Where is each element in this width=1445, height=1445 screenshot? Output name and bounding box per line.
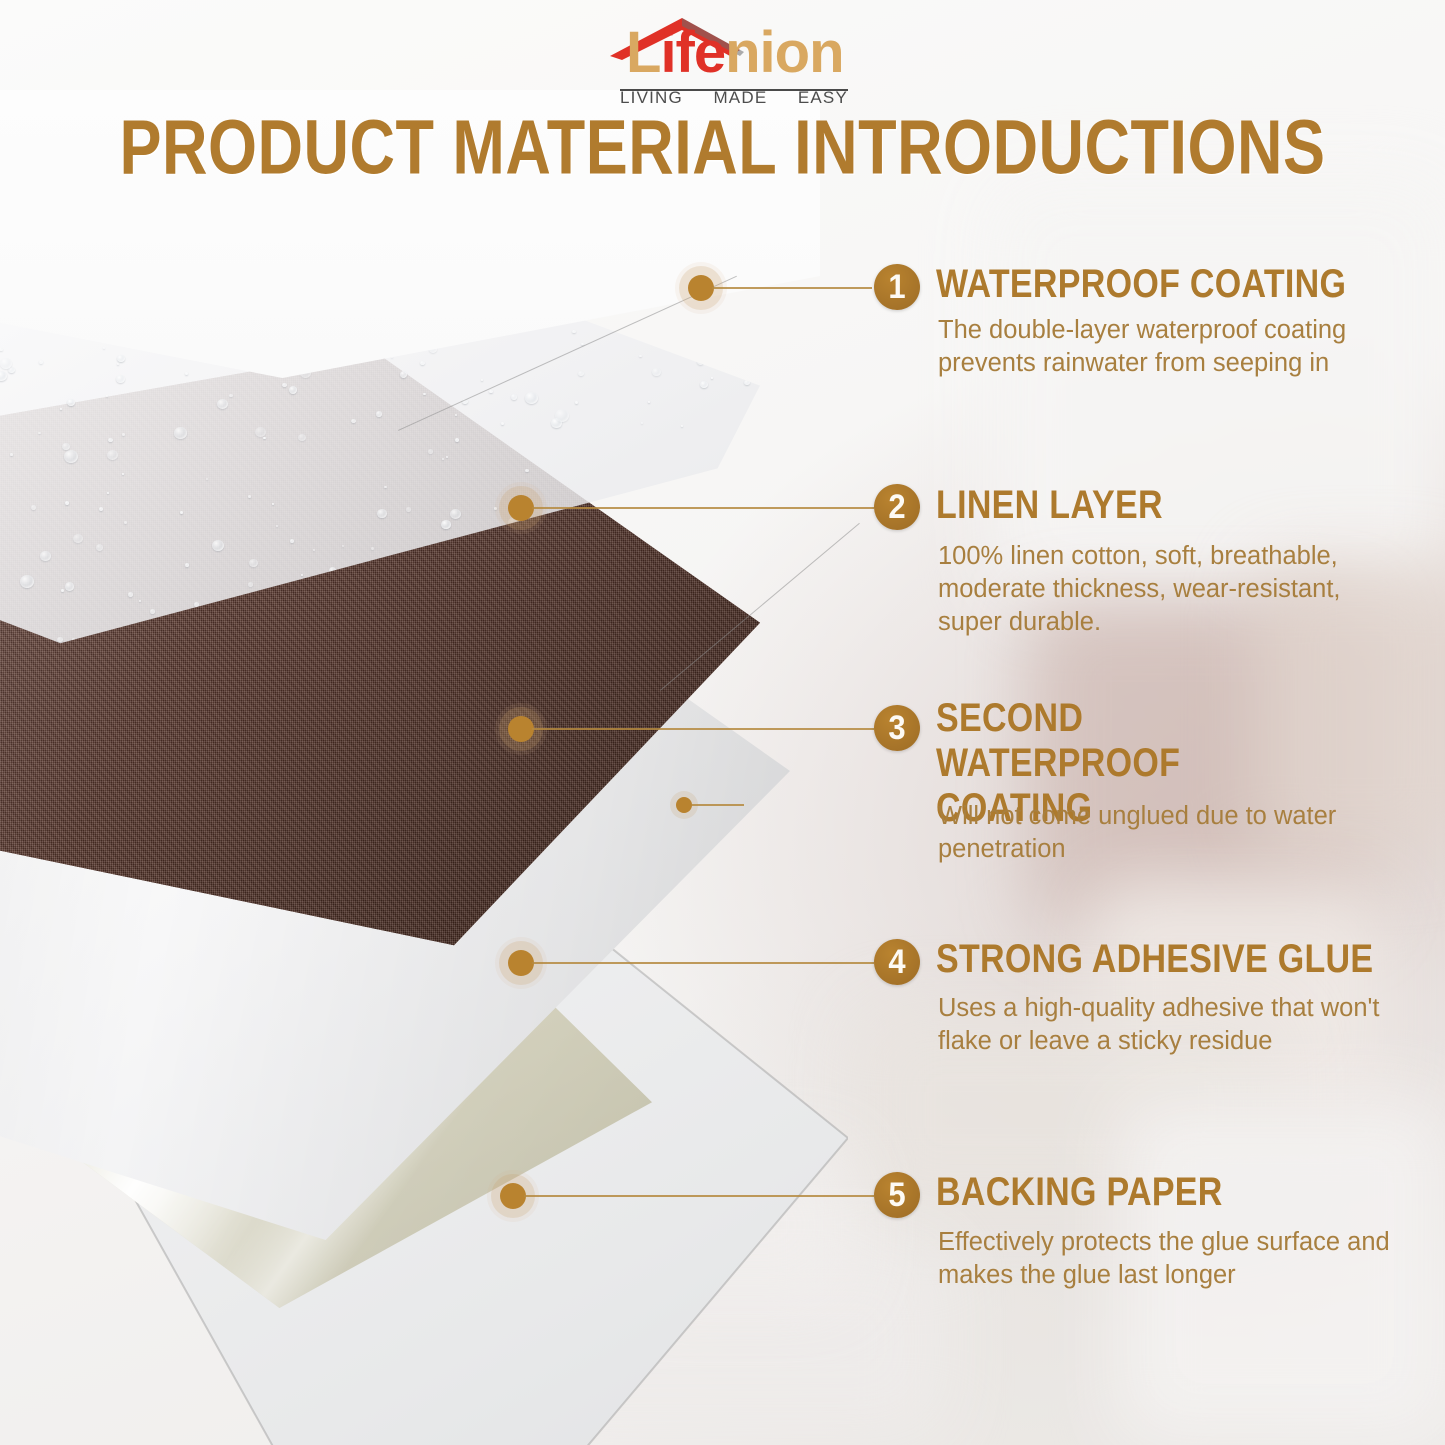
callout-description-1: The double-layer waterproof coating prev… [938, 314, 1406, 380]
water-droplet [342, 545, 344, 547]
water-droplet [481, 379, 483, 381]
water-droplet [174, 427, 187, 439]
callout-title-5: BACKING PAPER [936, 1173, 1406, 1211]
water-droplet [128, 592, 133, 597]
water-droplet [511, 394, 517, 400]
callout-badge-2: 2 [874, 484, 920, 530]
water-droplet [721, 555, 724, 557]
water-droplet [525, 392, 538, 404]
water-droplet [117, 355, 125, 362]
water-droplet [122, 433, 125, 436]
water-droplet [697, 358, 704, 365]
water-droplet [428, 449, 433, 454]
water-droplet [180, 511, 183, 514]
water-droplet [0, 348, 3, 351]
water-droplet [697, 534, 699, 536]
water-droplet [116, 375, 125, 383]
water-droplet [67, 399, 75, 406]
callout-dot-2[interactable] [508, 495, 534, 521]
water-droplet [206, 478, 208, 480]
water-droplet [681, 425, 683, 427]
water-droplet [124, 521, 127, 524]
logo-letters-ife: ife [660, 20, 725, 85]
water-droplet [60, 408, 62, 410]
water-droplet [298, 434, 306, 441]
water-droplet [744, 380, 750, 385]
water-droplet [108, 438, 113, 442]
callout-dot-3[interactable] [508, 716, 534, 742]
water-droplet [442, 458, 444, 460]
water-droplet [501, 422, 504, 425]
water-droplet [249, 559, 258, 567]
water-droplet [99, 507, 103, 511]
water-droplet [420, 361, 425, 365]
water-droplet [290, 539, 294, 543]
water-droplet [96, 544, 103, 551]
water-droplet [551, 418, 562, 428]
water-droplet [185, 372, 188, 375]
water-droplet [31, 505, 36, 510]
water-droplet [20, 575, 34, 588]
water-droplet [700, 381, 708, 388]
water-droplet [248, 495, 251, 498]
water-droplet [301, 574, 303, 576]
water-droplet [73, 534, 83, 543]
water-droplet [446, 456, 448, 458]
material-layer-stack-illustration [0, 210, 900, 1445]
water-droplet [711, 377, 713, 379]
water-droplet [376, 411, 382, 417]
callout-title-1: WATERPROOF COATING [936, 265, 1406, 303]
callout-title-2: LINEN LAYER [936, 486, 1406, 524]
water-droplet [61, 589, 64, 592]
water-droplet [489, 390, 493, 393]
water-droplet [212, 540, 224, 551]
water-droplet [229, 394, 233, 397]
callout-description-5: Effectively protects the glue surface an… [938, 1226, 1408, 1292]
water-droplet [263, 437, 266, 439]
callout-dot-1[interactable] [688, 275, 714, 301]
callout-leader-5 [524, 1195, 874, 1197]
water-droplet [217, 399, 228, 409]
water-droplet [641, 422, 643, 424]
water-droplet [122, 473, 124, 475]
callout-leader-4 [532, 962, 874, 964]
callout-badge-4: 4 [874, 939, 920, 985]
water-droplet [289, 386, 297, 394]
water-droplet [747, 426, 750, 429]
callout-leader-1 [712, 287, 872, 289]
water-droplet [248, 582, 253, 587]
water-droplet [276, 525, 278, 527]
water-droplet [64, 450, 78, 463]
water-droplet [400, 371, 407, 378]
water-droplet [139, 600, 141, 602]
callout-badge-5: 5 [874, 1172, 920, 1218]
water-droplet [652, 368, 661, 376]
callout-leader-3b [692, 804, 744, 806]
water-droplet [441, 520, 451, 529]
callout-dot-5[interactable] [500, 1183, 526, 1209]
callout-description-2: 100% linen cotton, soft, breathable, mod… [938, 540, 1408, 639]
water-droplet [377, 509, 387, 518]
water-droplet [406, 507, 411, 512]
callout-dot-4[interactable] [508, 950, 534, 976]
water-droplet [255, 427, 266, 437]
callout-description-3: Will not come unglued due to water penet… [938, 800, 1408, 866]
water-droplet [39, 360, 43, 364]
water-droplet [494, 507, 497, 510]
water-droplet [575, 401, 578, 404]
logo-letter-l: L [626, 20, 660, 85]
water-droplet [194, 602, 199, 607]
water-droplet [423, 393, 426, 395]
water-droplet [742, 598, 748, 604]
water-droplet [371, 547, 374, 550]
water-droplet [677, 341, 684, 347]
water-droplet [572, 330, 576, 333]
water-droplet [38, 432, 41, 434]
water-droplet [731, 339, 733, 341]
water-droplet [107, 450, 118, 460]
water-droplet [725, 362, 731, 367]
water-droplet [0, 371, 7, 381]
water-droplet [117, 363, 119, 365]
callout-badge-1: 1 [874, 264, 920, 310]
callout-leader-3 [532, 728, 874, 730]
water-droplet [272, 503, 274, 505]
water-droplet [648, 401, 650, 403]
brand-wordmark: Lifenion [626, 24, 844, 82]
water-droplet [150, 609, 155, 614]
water-droplet [65, 501, 69, 505]
water-droplet [701, 361, 703, 363]
page-title: PRODUCT MATERIAL INTRODUCTIONS [0, 112, 1445, 184]
water-droplet [10, 453, 13, 456]
water-droplet [106, 395, 108, 397]
logo-letters-nion: nion [725, 20, 843, 85]
water-droplet [103, 347, 105, 349]
water-droplet [578, 371, 584, 376]
water-droplet [455, 438, 459, 442]
brand-logo[interactable]: Lifenion LIVING MADE EASY [602, 8, 852, 100]
callout-description-4: Uses a high-quality adhesive that won't … [938, 992, 1408, 1058]
water-droplet [351, 419, 356, 423]
water-droplet [40, 551, 51, 561]
water-droplet [711, 524, 721, 533]
water-droplet [185, 563, 189, 567]
water-droplet [57, 637, 63, 642]
water-droplet [450, 509, 461, 519]
water-droplet [65, 582, 74, 591]
water-droplet [313, 549, 315, 551]
water-droplet [107, 492, 109, 494]
infographic-canvas: Lifenion LIVING MADE EASY PRODUCT MATERI… [0, 0, 1445, 1445]
water-droplet [384, 486, 387, 488]
callout-dot-3b[interactable] [676, 797, 692, 813]
water-droplet [525, 469, 529, 472]
callout-leader-2 [532, 507, 874, 509]
water-droplet [0, 358, 12, 369]
water-droplet [282, 383, 287, 387]
water-droplet [455, 414, 457, 416]
water-droplet [639, 355, 642, 357]
callout-title-4: STRONG ADHESIVE GLUE [936, 940, 1406, 978]
callout-badge-3: 3 [874, 705, 920, 751]
